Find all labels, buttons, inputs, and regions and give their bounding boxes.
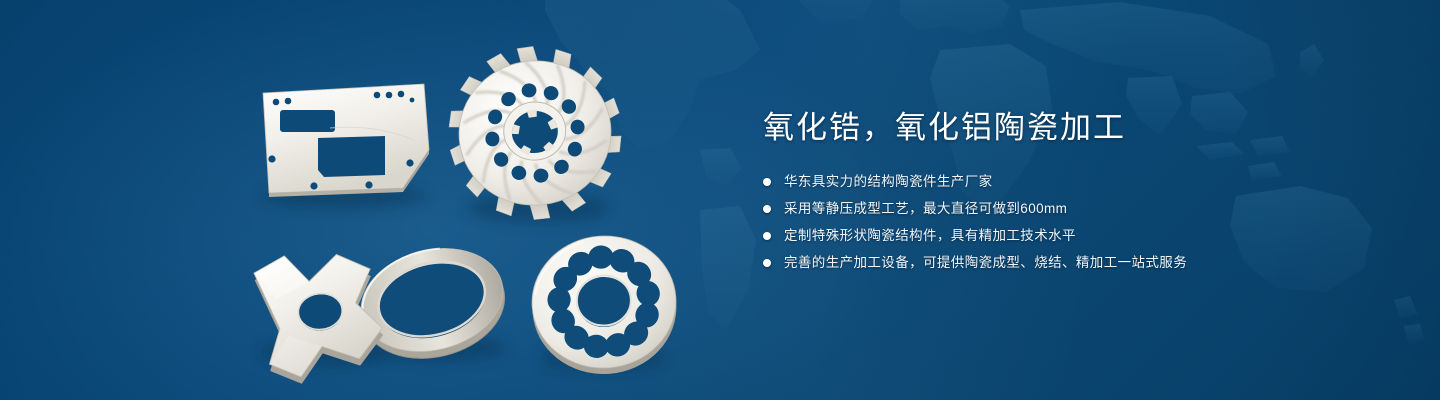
bullet-dot-icon (763, 178, 771, 186)
product-ceramic-impeller (437, 36, 634, 231)
feature-list: 华东具实力的结构陶瓷件生产厂家 采用等静压成型工艺，最大直径可做到600mm 定… (763, 171, 1383, 274)
list-item-label: 定制特殊形状陶瓷结构件，具有精加工技术水平 (784, 225, 1076, 247)
list-item-label: 华东具实力的结构陶瓷件生产厂家 (784, 171, 993, 193)
product-ceramic-flat-plate (263, 84, 429, 197)
text-content-pane: 氧化锆，氧化铝陶瓷加工 华东具实力的结构陶瓷件生产厂家 采用等静压成型工艺，最大… (763, 108, 1383, 279)
list-item: 采用等静压成型工艺，最大直径可做到600mm (763, 198, 1383, 220)
list-item: 华东具实力的结构陶瓷件生产厂家 (763, 171, 1383, 193)
list-item-label: 采用等静压成型工艺，最大直径可做到600mm (784, 198, 1067, 220)
page-title: 氧化锆，氧化铝陶瓷加工 (763, 108, 1383, 148)
hero-banner: 氧化锆，氧化铝陶瓷加工 华东具实力的结构陶瓷件生产厂家 采用等静压成型工艺，最大… (0, 0, 1440, 400)
bullet-dot-icon (763, 232, 771, 240)
product-photo-group (0, 0, 760, 400)
bullet-dot-icon (763, 205, 771, 213)
product-ceramic-cross-plate (252, 247, 387, 388)
products-svg (0, 0, 760, 400)
list-item: 完善的生产加工设备，可提供陶瓷成型、烧结、精加工一站式服务 (763, 252, 1383, 274)
bullet-dot-icon (763, 259, 771, 267)
list-item: 定制特殊形状陶瓷结构件，具有精加工技术水平 (763, 225, 1383, 247)
list-item-label: 完善的生产加工设备，可提供陶瓷成型、烧结、精加工一站式服务 (784, 252, 1187, 274)
